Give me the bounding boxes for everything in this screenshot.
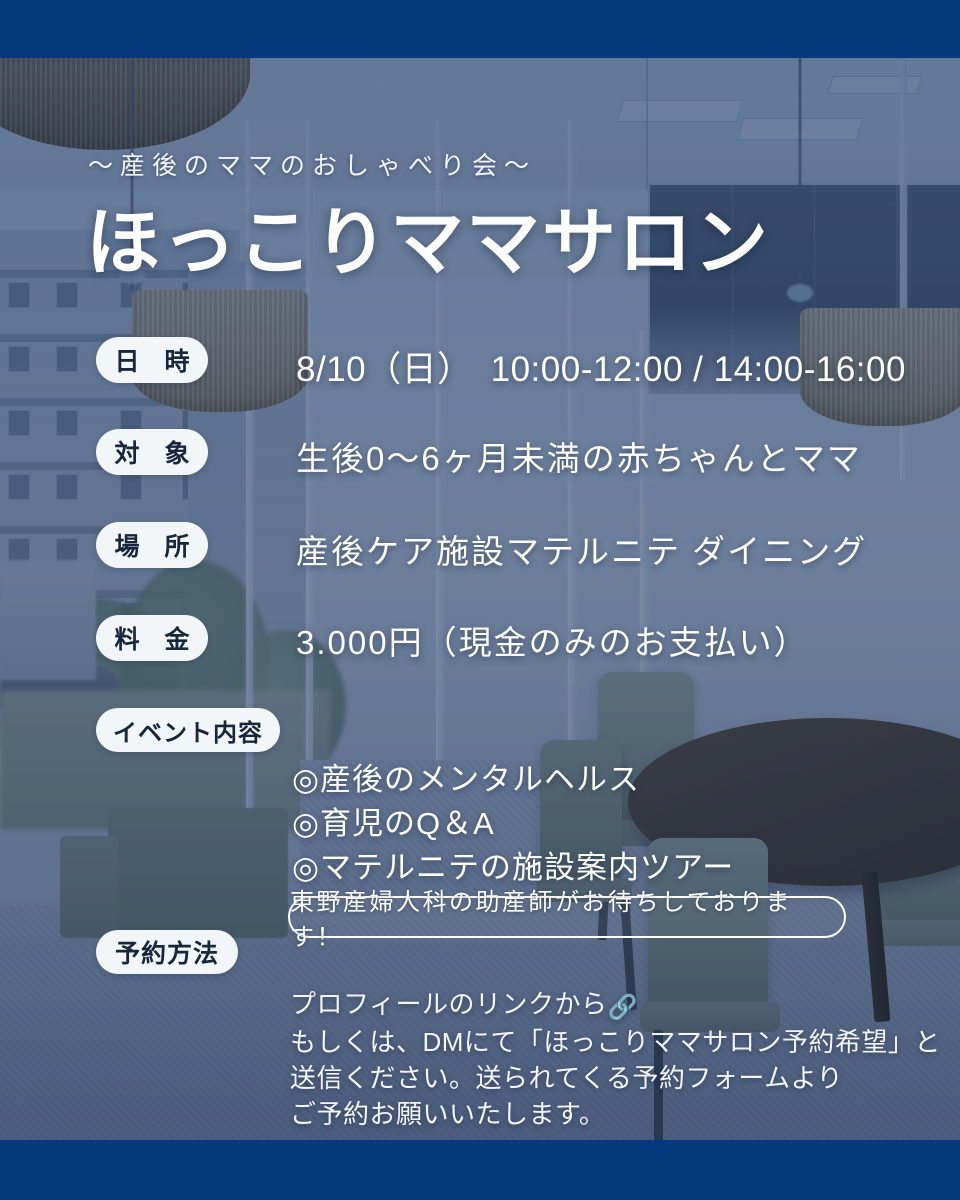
label-pill-venue: 場 所 [96,522,208,568]
top-navy-bar [0,0,960,58]
value-audience: 生後0〜6ヶ月未満の赤ちゃんとママ [296,432,862,480]
label-pill-datetime: 日 時 [96,337,208,383]
bottom-navy-bar [0,1140,960,1200]
event-content-list: ◎産後のメンタルヘルス ◎育児のQ＆A ◎マテルニテの施設案内ツアー [292,758,734,890]
booking-line-4: ご予約お願いいたします。 [290,1096,941,1132]
page-title: ほっこりママサロン [86,183,770,290]
value-venue: 産後ケア施設マテルニテ ダイニング [296,525,867,573]
booking-line-1: プロフィールのリンクから🔗 [290,986,941,1024]
event-item: ◎産後のメンタルヘルス [292,758,734,802]
value-datetime: 8/10（日） 10:00-12:00 / 14:00-16:00 [296,341,906,392]
booking-instructions: プロフィールのリンクから🔗 もしくは、DMにて「ほっこりママサロン予約希望」と … [290,986,941,1132]
booking-line-3: 送信ください。送られてくる予約フォームより [290,1060,941,1096]
label-pill-booking: 予約方法 [96,930,238,974]
label-pill-price: 料 金 [96,615,208,661]
link-icon: 🔗 [607,990,637,1026]
booking-line-1-text: プロフィールのリンクから [290,989,607,1019]
label-pill-event-content: イベント内容 [96,708,280,752]
event-item: ◎育児のQ＆A [292,802,734,846]
label-pill-audience: 対 象 [96,429,208,475]
booking-line-2: もしくは、DMにて「ほっこりママサロン予約希望」と [290,1024,941,1060]
midwife-notice-banner: 東野産婦人科の助産師がお待ちしております！ [288,896,846,938]
poster-content: 〜産後のママのおしゃべり会〜 ほっこりママサロン 日 時 8/10（日） 10:… [0,58,960,1140]
eyebrow-text: 〜産後のママのおしゃべり会〜 [88,146,536,182]
poster-root: 〜産後のママのおしゃべり会〜 ほっこりママサロン 日 時 8/10（日） 10:… [0,0,960,1200]
value-price: 3.000円（現金のみのお支払い） [296,616,809,664]
